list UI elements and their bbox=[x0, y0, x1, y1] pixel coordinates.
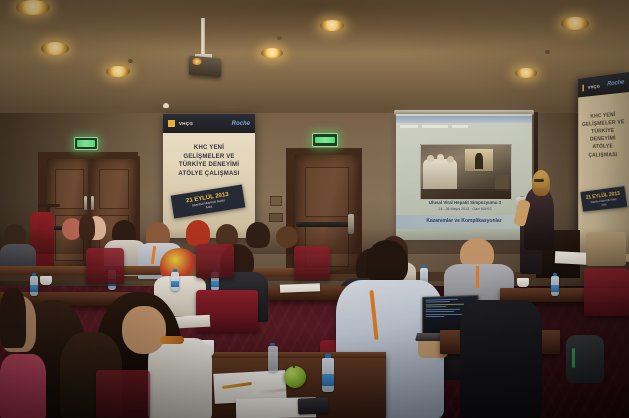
wall-switch-plate[interactable] bbox=[270, 196, 282, 206]
attendee-front-body-1 bbox=[0, 354, 46, 418]
necklace-front-2 bbox=[160, 336, 184, 344]
downlight-7 bbox=[515, 68, 537, 78]
chair-mid-5 bbox=[584, 268, 629, 316]
attendee-head-far-6 bbox=[186, 220, 210, 246]
downlight-2 bbox=[41, 42, 69, 55]
water-bottle-f3[interactable] bbox=[268, 346, 278, 372]
downlight-4 bbox=[320, 20, 344, 31]
coffee-cup-m1[interactable] bbox=[40, 276, 52, 285]
downlight-3 bbox=[106, 66, 130, 77]
chair-mid-3 bbox=[294, 246, 330, 280]
coffee-cup-m2[interactable] bbox=[517, 278, 529, 287]
banner-left-title-line-1: KHC YENİ bbox=[168, 144, 250, 153]
center-door-panic-bar[interactable] bbox=[296, 222, 352, 227]
projector-mount-pole bbox=[201, 18, 205, 56]
banner-left-date-tag: 21 EYLÜL 2013 İstanbul Marriott Hotel As… bbox=[171, 185, 246, 219]
banner-right-logo-secondary: Roche bbox=[607, 80, 624, 88]
green-apple[interactable] bbox=[284, 366, 306, 388]
banner-right-title-line-4: ATÖLYE ÇALIŞMASI bbox=[581, 143, 626, 160]
smoke-detector-3 bbox=[545, 50, 550, 54]
presenter-glasses bbox=[534, 179, 544, 182]
apple-stem bbox=[293, 363, 295, 368]
water-bottle-m6[interactable] bbox=[551, 276, 559, 296]
downlight-6 bbox=[561, 17, 589, 30]
chair-mid-2 bbox=[196, 244, 234, 278]
slide-toolbar-item-3 bbox=[452, 125, 468, 128]
chair-front-left bbox=[96, 370, 150, 418]
chair-mid-1 bbox=[86, 248, 124, 284]
conference-bag bbox=[586, 232, 626, 266]
attendee-front-hair-1b bbox=[0, 288, 26, 348]
attendee-head-far-8 bbox=[246, 222, 270, 248]
downlight-1 bbox=[16, 0, 50, 15]
water-bottle-f2[interactable] bbox=[322, 358, 334, 392]
left-door-handle-2[interactable] bbox=[91, 196, 94, 210]
banner-right-venue-2: Asia bbox=[601, 202, 607, 206]
lanyard-mid-4 bbox=[476, 266, 479, 288]
banner-left-logo-secondary: Roche bbox=[232, 121, 250, 127]
banner-left-title-line-4: ATÖLYE ÇALIŞMASI bbox=[168, 170, 250, 179]
banner-left-title-line-3: TÜRKİYE DENEYİMİ bbox=[168, 161, 250, 170]
wall-outlet-plate[interactable] bbox=[269, 213, 283, 222]
presenter-hair bbox=[532, 170, 550, 196]
smoke-detector-2 bbox=[128, 59, 133, 63]
banner-left-venue-2: Asia bbox=[205, 204, 212, 209]
slide-heading: Kazanımlar ve Komplikasyonlar bbox=[402, 218, 526, 224]
attendee-hair-far-3 bbox=[79, 214, 95, 240]
banner-right-title-line-3: TÜRKİYE DENEYİMİ bbox=[581, 126, 626, 144]
slide-subcaption: 24 - 26 Mayıs 2013 · Gazi MAYIS bbox=[410, 207, 520, 211]
slide-app-toolbar bbox=[396, 116, 532, 123]
smoke-detector-1 bbox=[277, 36, 282, 40]
water-bottle-m1[interactable] bbox=[30, 276, 38, 296]
exit-sign-center bbox=[312, 133, 338, 147]
exit-sign-left bbox=[74, 137, 98, 150]
banner-left-title-line-2: GELİŞMELER VE bbox=[168, 153, 250, 162]
banner-right-logo-primary: VHÇG bbox=[588, 83, 600, 89]
banner-left-logo-bar: VHÇG Roche bbox=[163, 114, 255, 133]
conference-room-photo: EXIT EXIT VHÇG Roche KHC YENİ GELİŞMELER… bbox=[0, 0, 629, 418]
attendee-front-body-2 bbox=[148, 338, 212, 418]
projector-lens bbox=[192, 58, 202, 65]
water-bottle-m3[interactable] bbox=[171, 272, 179, 291]
paper-handout-m1[interactable] bbox=[280, 283, 320, 292]
slide-toolbar-item-1 bbox=[400, 125, 418, 128]
backpack-zipper-accent bbox=[572, 348, 575, 368]
left-door-handle[interactable] bbox=[84, 196, 87, 210]
slide-toolbar-item-2 bbox=[422, 125, 448, 128]
paper-handout-m2[interactable] bbox=[555, 251, 590, 265]
slide-photo bbox=[420, 144, 512, 200]
projection-screen: Ulusal Viral Hepatit Simpozyumu 3 24 - 2… bbox=[396, 114, 532, 240]
attendee-front-dark bbox=[460, 300, 542, 418]
banner-right-date-tag: 21 EYLÜL 2013 İstanbul Marriott Hotel As… bbox=[580, 186, 627, 212]
vhcg-logo-mark bbox=[168, 120, 175, 127]
smartphone-on-table[interactable] bbox=[298, 397, 329, 414]
banner-left: VHÇG Roche KHC YENİ GELİŞMELER VE TÜRKİY… bbox=[163, 114, 255, 238]
laptop-user-head bbox=[366, 240, 408, 284]
attendee-head-far-9 bbox=[276, 226, 298, 248]
downlight-5 bbox=[261, 48, 283, 58]
banner-left-logo-primary: VHÇG bbox=[179, 121, 193, 126]
vhcg-logo-mark-right bbox=[582, 84, 584, 91]
coat-rack-arm bbox=[38, 204, 60, 207]
attendee-front-face-2 bbox=[122, 306, 166, 354]
slide-caption: Ulusal Viral Hepatit Simpozyumu 3 bbox=[410, 200, 520, 205]
